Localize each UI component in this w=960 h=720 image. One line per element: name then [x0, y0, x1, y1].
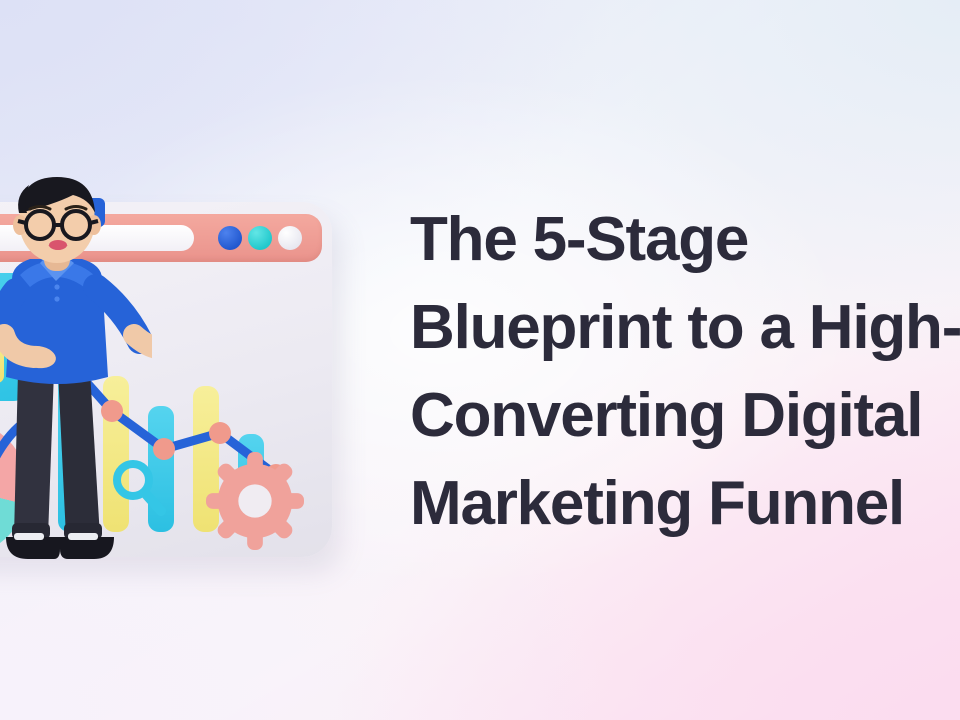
title-line-4: Marketing Funnel — [410, 460, 960, 548]
hero-banner: The 5-Stage Blueprint to a High- Convert… — [0, 0, 960, 720]
page-title: The 5-Stage Blueprint to a High- Convert… — [410, 196, 960, 548]
title-line-1: The 5-Stage — [410, 196, 960, 284]
title-line-3: Converting Digital — [410, 372, 960, 460]
illustration — [0, 175, 360, 595]
window-dot-white[interactable] — [278, 226, 302, 250]
title-line-2: Blueprint to a High- — [410, 284, 960, 372]
window-dot-teal[interactable] — [248, 226, 272, 250]
settings-gear-icon — [206, 452, 304, 550]
presenter-character — [0, 175, 152, 585]
window-dot-blue[interactable] — [218, 226, 242, 250]
